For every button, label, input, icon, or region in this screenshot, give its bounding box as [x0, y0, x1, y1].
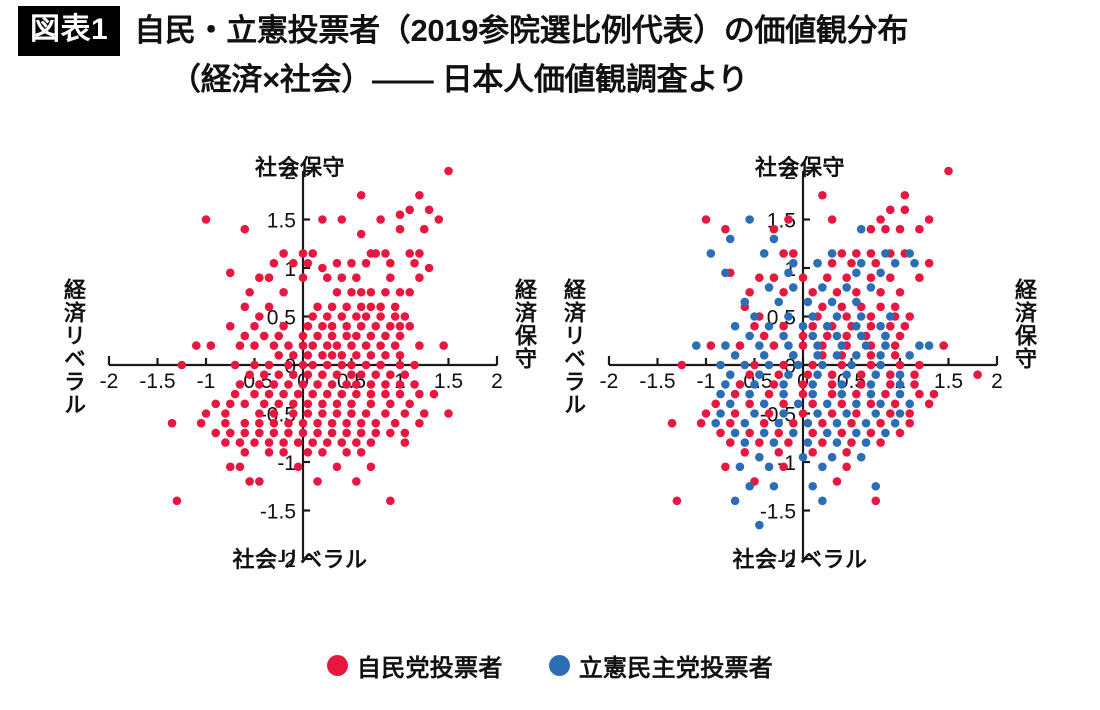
title-line-1: 図表1 自民・立憲投票者（2019参院選比例代表）の価値観分布	[18, 6, 1088, 56]
axis-title-bottom-left-panel: 社会リベラル	[40, 542, 560, 574]
circle-marker-icon	[549, 655, 570, 676]
svg-text:-1: -1	[277, 452, 296, 475]
svg-text:2: 2	[284, 161, 296, 184]
svg-text:-1: -1	[697, 370, 716, 393]
svg-text:2: 2	[491, 370, 503, 393]
legend-item-cdp: 立憲民主党投票者	[549, 648, 773, 683]
svg-text:-1.5: -1.5	[139, 370, 175, 393]
figure-number-badge: 図表1	[18, 6, 120, 56]
svg-text:-1.5: -1.5	[260, 501, 296, 524]
scatter-plot-right: -2-1.5-1-0.500.511.5221.510.50-0.5-1-1.5…	[540, 150, 1060, 580]
svg-text:-2: -2	[100, 370, 119, 393]
svg-text:1.5: 1.5	[934, 370, 963, 393]
chart-legend: 自民党投票者 立憲民主党投票者	[0, 648, 1100, 683]
svg-text:-1.5: -1.5	[639, 370, 675, 393]
svg-text:-1: -1	[197, 370, 216, 393]
svg-text:1.5: 1.5	[267, 210, 296, 233]
page-title: 自民・立憲投票者（2019参院選比例代表）の価値観分布	[134, 11, 908, 51]
svg-text:1.5: 1.5	[434, 370, 463, 393]
axis-title-bottom-right-panel: 社会リベラル	[540, 542, 1060, 574]
legend-item-ldp: 自民党投票者	[327, 648, 503, 683]
svg-text:2: 2	[784, 161, 796, 184]
legend-label-cdp: 立憲民主党投票者	[579, 648, 773, 683]
svg-text:-1.5: -1.5	[760, 501, 796, 524]
scatter-panel-right: 社会保守 経済リベラル 経済保守 -2-1.5-1-0.500.511.5221…	[540, 150, 1060, 580]
legend-label-ldp: 自民党投票者	[357, 648, 503, 683]
svg-text:-2: -2	[600, 370, 619, 393]
figure-title-block: 図表1 自民・立憲投票者（2019参院選比例代表）の価値観分布 （経済×社会）—…	[18, 6, 1088, 100]
svg-text:2: 2	[991, 370, 1003, 393]
circle-marker-icon	[327, 655, 348, 676]
scatter-plot-left: -2-1.5-1-0.500.511.5221.510.50-0.5-1-1.5…	[40, 150, 560, 580]
page-subtitle: （経済×社会）—— 日本人価値観調査より	[170, 60, 1088, 100]
scatter-panel-left: 社会保守 経済リベラル 経済保守 -2-1.5-1-0.500.511.5221…	[40, 150, 560, 580]
